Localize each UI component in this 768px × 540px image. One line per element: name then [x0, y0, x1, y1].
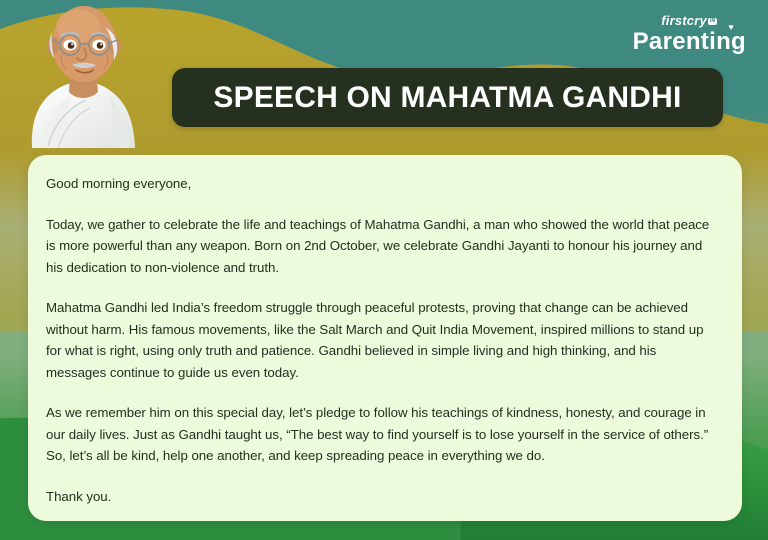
logo-in-badge: IN: [708, 18, 717, 25]
page-title: SPEECH ON MAHATMA GANDHI: [213, 81, 681, 115]
logo-firstcry-text: firstcry: [661, 13, 707, 28]
title-banner: SPEECH ON MAHATMA GANDHI: [172, 68, 723, 127]
speech-paragraph-2: Mahatma Gandhi led India’s freedom strug…: [46, 297, 720, 383]
heart-icon: ♥: [728, 23, 734, 32]
speech-paragraph-3: As we remember him on this special day, …: [46, 402, 720, 467]
speech-paragraph-closing: Thank you.: [46, 486, 720, 508]
speech-content-card: Good morning everyone, Today, we gather …: [28, 155, 742, 521]
gandhi-portrait-illustration: [14, 0, 142, 148]
speech-body: Good morning everyone, Today, we gather …: [28, 155, 742, 521]
speech-paragraph-greeting: Good morning everyone,: [46, 173, 720, 195]
poster-canvas: firstcryIN Parenting♥: [0, 0, 768, 540]
logo-brand-bottom: Parenting♥: [633, 30, 746, 54]
logo-parenting-text: Parenting: [633, 28, 746, 55]
firstcry-parenting-logo: firstcryIN Parenting♥: [633, 14, 746, 54]
speech-paragraph-1: Today, we gather to celebrate the life a…: [46, 214, 720, 279]
